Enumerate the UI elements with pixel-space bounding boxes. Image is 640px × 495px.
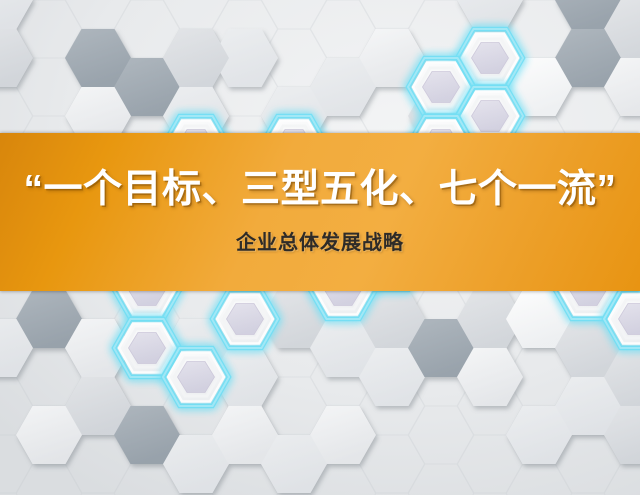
page-subtitle: 企业总体发展战略 bbox=[236, 226, 404, 255]
title-band: “一个目标、三型五化、七个一流” 企业总体发展战略 bbox=[0, 133, 640, 291]
page-title: “一个目标、三型五化、七个一流” bbox=[13, 169, 626, 210]
presentation-slide: “一个目标、三型五化、七个一流” 企业总体发展战略 bbox=[0, 0, 640, 495]
